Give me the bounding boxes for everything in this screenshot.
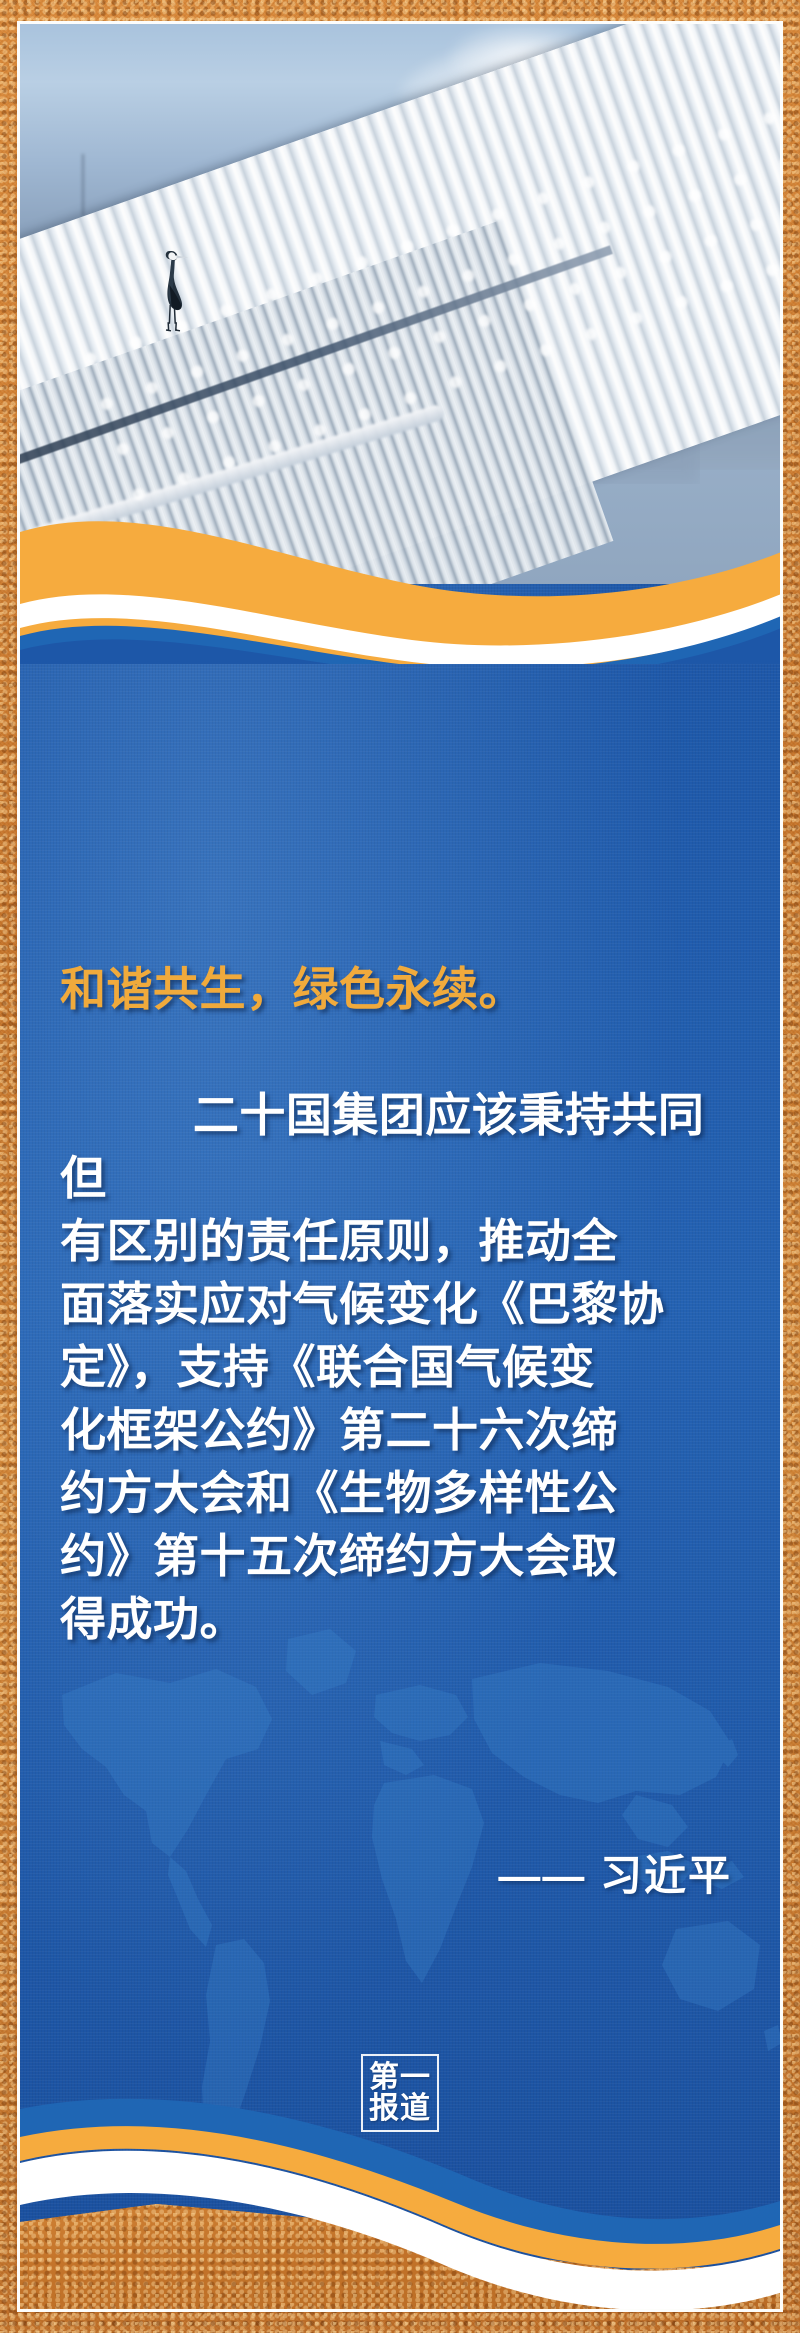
quote-attribution: —— 习近平 [498,1842,732,1903]
antenna-icon [82,154,84,216]
heron-icon [156,229,190,339]
quote-text: 和谐共生，绿色永续。 二十国集团应该秉持共同但 有区别的责任原则，推动全 面落实… [60,832,746,1714]
poster-card-inner: 和谐共生，绿色永续。 二十国集团应该秉持共同但 有区别的责任原则，推动全 面落实… [20,24,780,2309]
poster-canvas: 和谐共生，绿色永续。 二十国集团应该秉持共同但 有区别的责任原则，推动全 面落实… [0,0,800,2333]
quote-panel: 和谐共生，绿色永续。 二十国集团应该秉持共同但 有区别的责任原则，推动全 面落实… [20,584,780,2309]
wave-divider-top [20,454,780,664]
quote-headline: 和谐共生，绿色永续。 [60,958,746,1021]
quote-body: 二十国集团应该秉持共同但 有区别的责任原则，推动全 面落实应对气候变化《巴黎协 … [60,1089,704,1645]
poster-card: 和谐共生，绿色永续。 二十国集团应该秉持共同但 有区别的责任原则，推动全 面落实… [17,21,783,2312]
wave-divider-bottom [20,2079,780,2309]
